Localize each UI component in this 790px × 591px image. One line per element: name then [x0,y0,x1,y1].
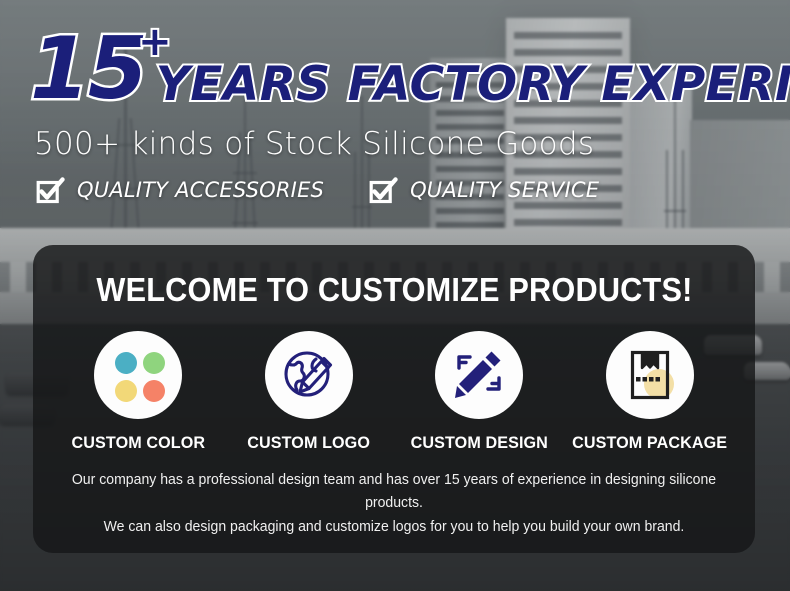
years-number-wrap: 15 + [30,26,146,112]
promo-banner: 15 + YEARS FACTORY EXPERIENCE 500+ kinds… [0,0,790,591]
feature-label: CUSTOM PACKAGE [572,433,727,453]
color-palette-dots-icon [112,349,164,401]
feature-icon-circle [265,331,353,419]
years-plus-symbol: + [138,22,172,62]
quality-check-item-accessories: QUALITY ACCESSORIES [36,176,324,204]
quality-check-item-service: QUALITY SERVICE [369,176,599,204]
feature-custom-package[interactable]: CUSTOM PACKAGE [565,331,736,453]
pencil-ruler-icon [450,344,508,407]
feature-custom-design[interactable]: CUSTOM DESIGN [394,331,565,453]
hero-subheadline: 500+ kinds of Stock Silicone Goods [34,126,790,162]
feature-icon-circle [94,331,182,419]
panel-description: Our company has a professional design te… [63,469,725,539]
feature-icon-row: CUSTOM COLOR [53,331,735,453]
panel-description-line-1: Our company has a professional design te… [63,469,725,516]
quality-check-row: QUALITY ACCESSORIES QUALITY SERVICE [36,176,790,204]
feature-custom-color[interactable]: CUSTOM COLOR [53,331,224,453]
headline: 15 + YEARS FACTORY EXPERIENCE [30,26,790,112]
checkbox-check-icon [36,176,64,204]
feature-icon-circle [435,331,523,419]
package-box-icon [621,346,679,404]
years-number: 15 [30,26,146,112]
checkbox-check-icon [369,176,397,204]
feature-custom-logo[interactable]: CUSTOM LOGO [224,331,395,453]
quality-check-label: QUALITY ACCESSORIES [77,178,324,202]
feature-label: CUSTOM LOGO [247,433,370,453]
hero-block: 15 + YEARS FACTORY EXPERIENCE 500+ kinds… [0,0,790,204]
panel-title: WELCOME TO CUSTOMIZE PRODUCTS! [96,271,692,309]
customize-panel: WELCOME TO CUSTOMIZE PRODUCTS! CUSTOM CO… [33,245,755,553]
quality-check-label: QUALITY SERVICE [410,178,599,202]
feature-icon-circle [606,331,694,419]
globe-pencil-icon [280,344,338,407]
panel-description-line-2: We can also design packaging and customi… [63,516,725,539]
feature-label: CUSTOM COLOR [71,433,205,453]
feature-label: CUSTOM DESIGN [411,433,548,453]
headline-text: YEARS FACTORY EXPERIENCE [156,61,790,108]
